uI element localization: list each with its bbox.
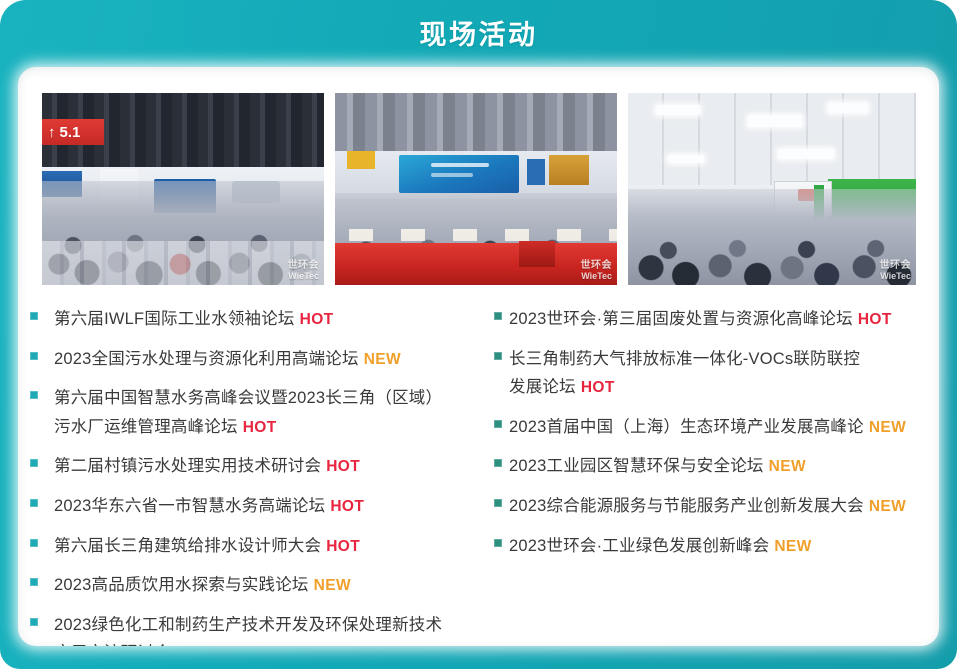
bullet-square-icon <box>30 539 38 547</box>
status-badge-new: NEW <box>364 351 401 368</box>
list-item[interactable]: 2023全国污水处理与资源化利用高端论坛NEW <box>30 345 494 374</box>
list-item-line1: 2023华东六省一市智慧水务高端论坛 <box>54 497 325 515</box>
list-item-label: 2023世环会·第三届固废处置与资源化高峰论坛HOT <box>509 305 892 334</box>
page-title: 现场活动 <box>420 22 538 49</box>
list-item-line1: 2023绿色化工和制药生产技术开发及环保处理新技术 <box>54 616 442 634</box>
list-item-label: 第六届中国智慧水务高峰会议暨2023长三角（区域）污水厂运维管理高峰论坛HOT <box>54 384 442 441</box>
status-badge-hot: HOT <box>300 311 334 328</box>
photo-watermark: 世环会 WieTec <box>288 261 320 281</box>
list-item-label: 2023高品质饮用水探索与实践论坛NEW <box>54 571 351 600</box>
list-item[interactable]: 第六届长三角建筑给排水设计师大会HOT <box>30 532 494 561</box>
bullet-square-icon <box>494 352 502 360</box>
hall-sign-arrow-icon: ↑ <box>48 124 56 141</box>
bullet-square-icon <box>30 618 38 626</box>
live-events-panel: 现场活动 ↑ 5.1 世环会 WieTec <box>0 0 957 669</box>
content-card: ↑ 5.1 世环会 WieTec <box>18 67 939 646</box>
photo-seminar-room-green-stage[interactable]: 世环会 WieTec <box>628 93 916 285</box>
list-item-line1: 2023世环会·工业绿色发展创新峰会 <box>509 537 769 555</box>
list-item-line2: 发展论坛HOT <box>509 373 860 402</box>
status-badge-new: NEW <box>869 419 906 436</box>
list-item[interactable]: 2023高品质饮用水探索与实践论坛NEW <box>30 571 494 600</box>
list-item[interactable]: 第六届中国智慧水务高峰会议暨2023长三角（区域）污水厂运维管理高峰论坛HOT <box>30 384 494 441</box>
panel-header: 现场活动 <box>0 0 957 70</box>
list-item[interactable]: 2023世环会·工业绿色发展创新峰会NEW <box>494 532 939 561</box>
hall-number-sign: ↑ 5.1 <box>42 119 104 145</box>
list-item-label: 2023工业园区智慧环保与安全论坛NEW <box>509 452 806 481</box>
list-item-line1: 第六届长三角建筑给排水设计师大会 <box>54 537 321 555</box>
hall-sign-number: 5.1 <box>60 124 81 141</box>
bullet-square-icon <box>494 420 502 428</box>
list-item[interactable]: 2023首届中国（上海）生态环境产业发展高峰论NEW <box>494 413 939 442</box>
bullet-square-icon <box>494 312 502 320</box>
list-item[interactable]: 2023华东六省一市智慧水务高端论坛HOT <box>30 492 494 521</box>
status-badge-new: NEW <box>869 498 906 515</box>
list-item[interactable]: 2023世环会·第三届固废处置与资源化高峰论坛HOT <box>494 305 939 334</box>
head-table <box>335 243 617 285</box>
list-item-line1: 第六届中国智慧水务高峰会议暨2023长三角（区域） <box>54 389 442 407</box>
bullet-square-icon <box>30 499 38 507</box>
bullet-square-icon <box>30 459 38 467</box>
list-item-label: 第六届IWLF国际工业水领袖论坛HOT <box>54 305 334 334</box>
list-item[interactable]: 第六届IWLF国际工业水领袖论坛HOT <box>30 305 494 334</box>
list-item-line2: 污水厂运维管理高峰论坛HOT <box>54 413 442 442</box>
status-badge-new: NEW <box>774 538 811 555</box>
list-item-line1: 2023首届中国（上海）生态环境产业发展高峰论 <box>509 418 864 436</box>
list-item-line1: 2023世环会·第三届固废处置与资源化高峰论坛 <box>509 310 853 328</box>
bullet-square-icon <box>30 578 38 586</box>
list-item[interactable]: 2023绿色化工和制药生产技术开发及环保处理新技术应用交流研讨会 <box>30 611 494 646</box>
photo-watermark: 世环会 WieTec <box>581 261 613 281</box>
status-badge-hot: HOT <box>326 458 360 475</box>
status-badge-hot: HOT <box>581 379 615 396</box>
photo-strip: ↑ 5.1 世环会 WieTec <box>42 93 916 285</box>
list-item-label: 2023首届中国（上海）生态环境产业发展高峰论NEW <box>509 413 906 442</box>
list-item[interactable]: 第二届村镇污水处理实用技术研讨会HOT <box>30 452 494 481</box>
status-badge-new: NEW <box>314 577 351 594</box>
bullet-square-icon <box>494 459 502 467</box>
list-item-label: 2023绿色化工和制药生产技术开发及环保处理新技术应用交流研讨会 <box>54 611 442 646</box>
photo-exhibition-hall-audience[interactable]: ↑ 5.1 世环会 WieTec <box>42 93 324 285</box>
bullet-square-icon <box>494 499 502 507</box>
status-badge-hot: HOT <box>243 419 277 436</box>
status-badge-hot: HOT <box>858 311 892 328</box>
list-item-line1: 2023全国污水处理与资源化利用高端论坛 <box>54 350 359 368</box>
list-item-label: 2023综合能源服务与节能服务产业创新发展大会NEW <box>509 492 906 521</box>
list-item-line1: 2023综合能源服务与节能服务产业创新发展大会 <box>509 497 864 515</box>
list-item-line1: 第二届村镇污水处理实用技术研讨会 <box>54 457 321 475</box>
list-item-label: 第二届村镇污水处理实用技术研讨会HOT <box>54 452 360 481</box>
event-lists: 第六届IWLF国际工业水领袖论坛HOT2023全国污水处理与资源化利用高端论坛N… <box>18 305 939 646</box>
bullet-square-icon <box>30 312 38 320</box>
photo-forum-red-table-panel[interactable]: 世环会 WieTec <box>335 93 617 285</box>
list-item[interactable]: 长三角制药大气排放标准一体化-VOCs联防联控发展论坛HOT <box>494 345 939 402</box>
list-item-line1: 2023高品质饮用水探索与实践论坛 <box>54 576 309 594</box>
bullet-square-icon <box>494 539 502 547</box>
bullet-square-icon <box>30 391 38 399</box>
bullet-square-icon <box>30 352 38 360</box>
list-item-label: 2023华东六省一市智慧水务高端论坛HOT <box>54 492 364 521</box>
event-list-right: 2023世环会·第三届固废处置与资源化高峰论坛HOT长三角制药大气排放标准一体化… <box>494 305 939 646</box>
status-badge-hot: HOT <box>330 498 364 515</box>
list-item-line1: 长三角制药大气排放标准一体化-VOCs联防联控 <box>509 350 860 368</box>
list-item-label: 2023世环会·工业绿色发展创新峰会NEW <box>509 532 812 561</box>
list-item-label: 第六届长三角建筑给排水设计师大会HOT <box>54 532 360 561</box>
list-item-label: 2023全国污水处理与资源化利用高端论坛NEW <box>54 345 401 374</box>
list-item-line2: 应用交流研讨会 <box>54 639 442 646</box>
list-item[interactable]: 2023综合能源服务与节能服务产业创新发展大会NEW <box>494 492 939 521</box>
photo-watermark: 世环会 WieTec <box>880 261 912 281</box>
list-item-label: 长三角制药大气排放标准一体化-VOCs联防联控发展论坛HOT <box>509 345 860 402</box>
list-item-line1: 第六届IWLF国际工业水领袖论坛 <box>54 310 295 328</box>
status-badge-hot: HOT <box>326 538 360 555</box>
status-badge-new: NEW <box>769 458 806 475</box>
event-list-left: 第六届IWLF国际工业水领袖论坛HOT2023全国污水处理与资源化利用高端论坛N… <box>18 305 494 646</box>
list-item-line1: 2023工业园区智慧环保与安全论坛 <box>509 457 764 475</box>
list-item[interactable]: 2023工业园区智慧环保与安全论坛NEW <box>494 452 939 481</box>
